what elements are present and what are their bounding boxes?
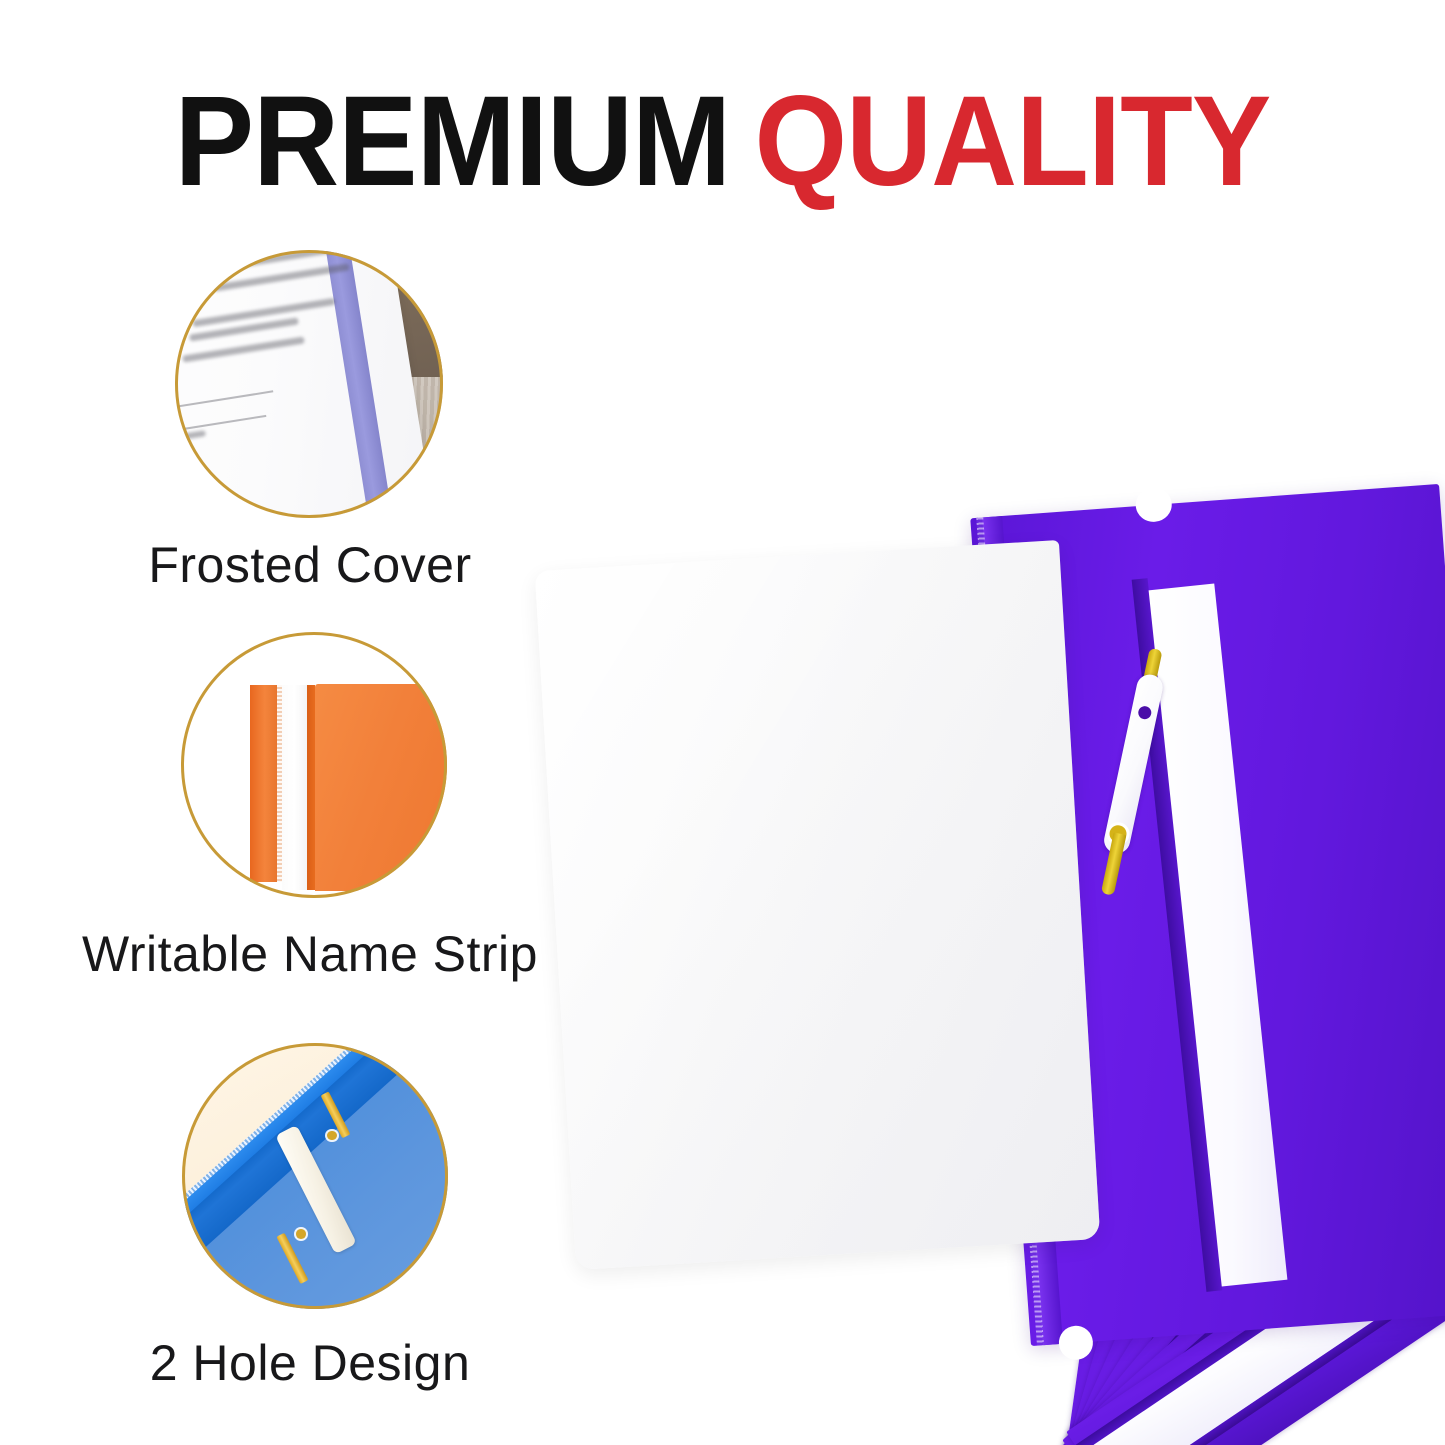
infographic-canvas: PREMIUMQUALITY	[0, 0, 1445, 1445]
name-strip-scene	[181, 632, 447, 898]
feature-photo-writable-name-strip	[181, 632, 447, 898]
feature-photo-two-hole-design	[182, 1043, 448, 1309]
frosted-cover-scene	[175, 250, 443, 518]
page-title: PREMIUMQUALITY	[51, 78, 1395, 206]
two-hole-scene	[182, 1043, 448, 1309]
feature-label-frosted-cover: Frosted Cover	[0, 536, 620, 594]
fastener-eyelet-bottom	[296, 1229, 306, 1239]
front-cover-sheen	[535, 540, 1101, 1270]
orange-front-edge	[307, 685, 315, 890]
feature-label-writable-name-strip: Writable Name Strip	[0, 925, 620, 983]
orange-front-cover	[315, 684, 447, 891]
title-word-premium: PREMIUM	[175, 70, 731, 213]
feature-label-two-hole-design: 2 Hole Design	[0, 1334, 620, 1392]
title-word-quality: QUALITY	[754, 70, 1270, 213]
white-writable-strip	[282, 685, 307, 890]
fastener-eyelet-top	[327, 1131, 337, 1141]
thumb-notch-top	[1135, 487, 1173, 524]
frosted-front-cover	[535, 540, 1101, 1270]
hero-product-photo	[545, 255, 1445, 1265]
feature-photo-frosted-cover	[175, 250, 443, 518]
